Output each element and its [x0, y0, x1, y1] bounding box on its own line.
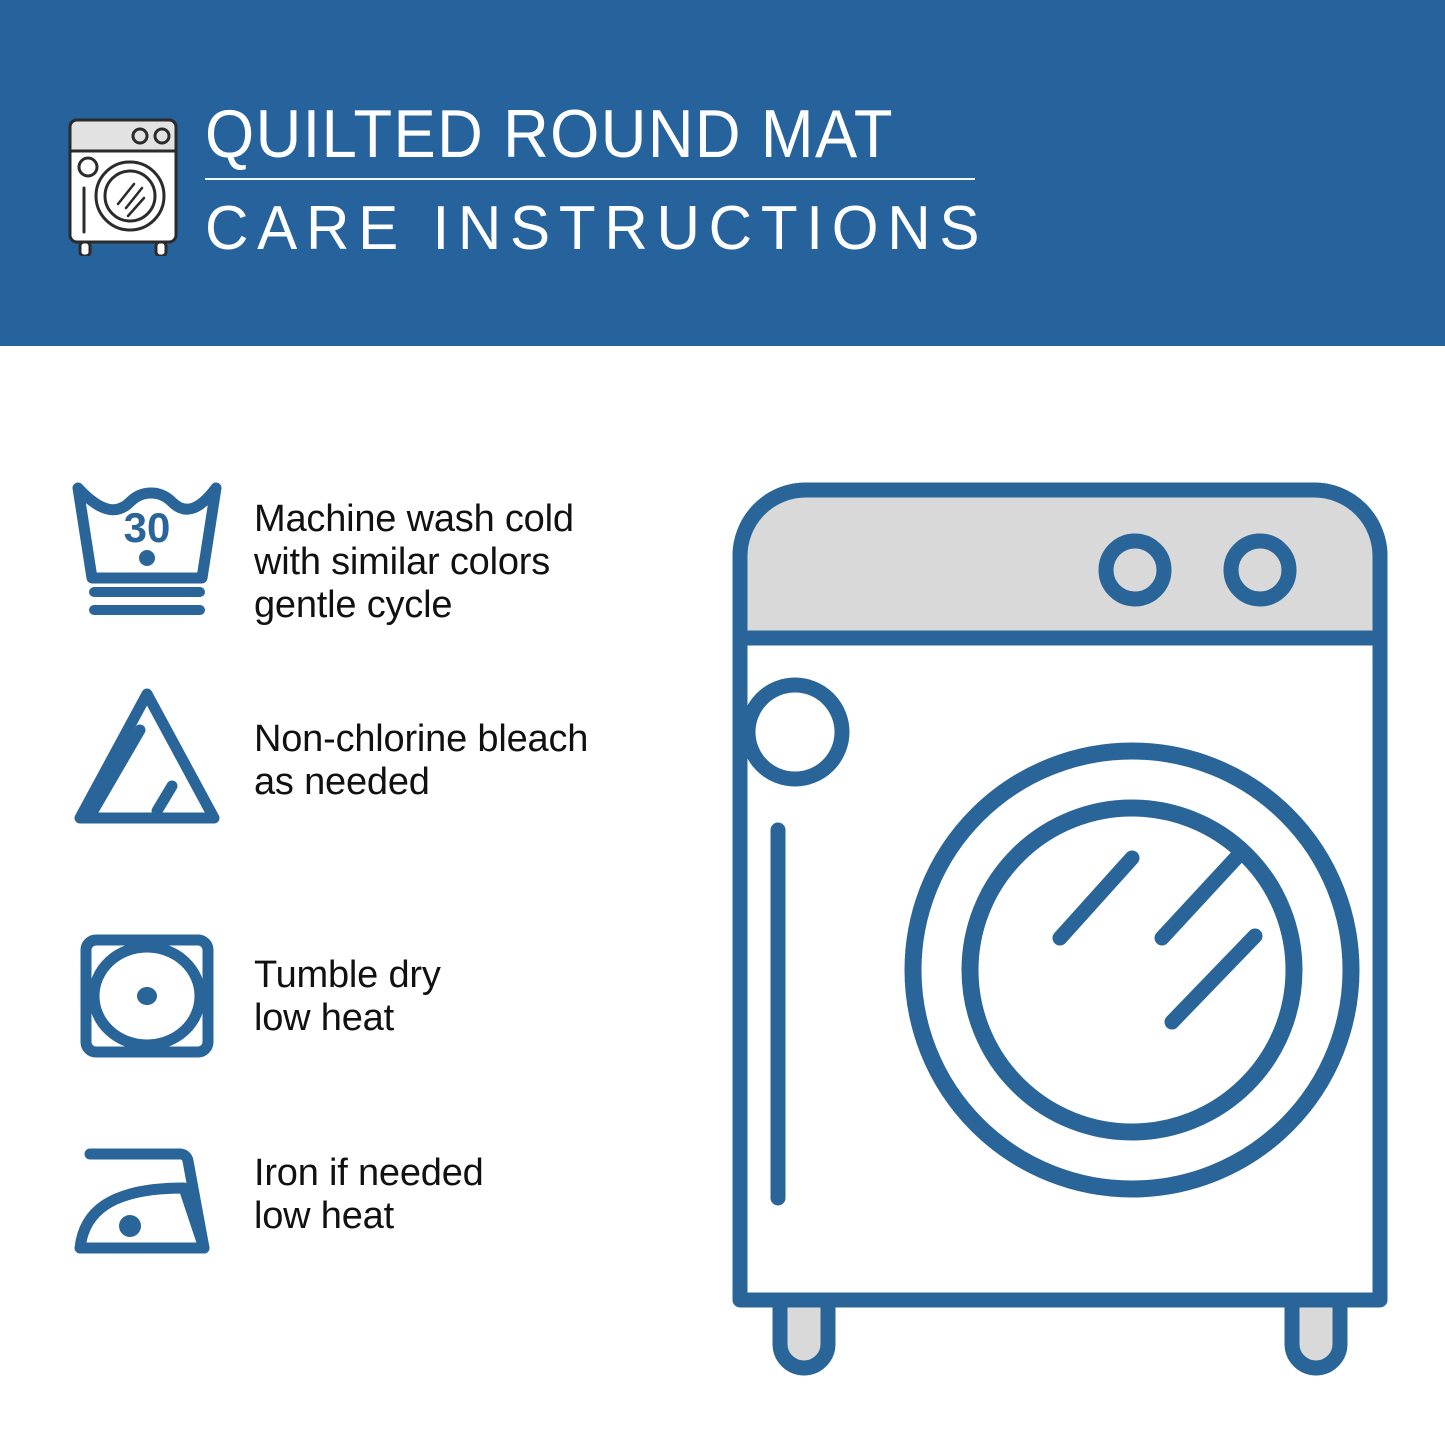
header-banner: QUILTED ROUND MAT CARE INSTRUCTIONS: [0, 0, 1445, 346]
header-text-block: QUILTED ROUND MAT CARE INSTRUCTIONS: [205, 96, 1005, 264]
care-line: Machine wash cold: [254, 498, 574, 541]
care-instruction-list: 30 Machine wash cold with similar colors…: [0, 470, 700, 1316]
leg-left: [780, 1300, 828, 1368]
page-subtitle: CARE INSTRUCTIONS: [205, 194, 981, 264]
care-line: as needed: [254, 761, 588, 804]
list-item: Non-chlorine bleach as needed: [0, 678, 700, 916]
page-title: QUILTED ROUND MAT: [205, 96, 949, 172]
care-line: Iron if needed: [254, 1152, 484, 1195]
care-line: low heat: [254, 997, 441, 1040]
wash-tub-30-icon: 30: [62, 470, 232, 630]
wash-temp-label: 30: [124, 504, 171, 551]
title-divider: [205, 178, 975, 180]
care-text-3: Iron if needed low heat: [254, 1116, 484, 1238]
care-line: Tumble dry: [254, 954, 441, 997]
washing-machine-icon: [62, 104, 184, 256]
care-text-2: Tumble dry low heat: [254, 916, 441, 1040]
tumble-dry-low-icon: [62, 916, 232, 1076]
iron-low-heat-icon: [62, 1116, 232, 1276]
front-load-washing-machine-illustration: [720, 470, 1400, 1380]
care-line: with similar colors: [254, 541, 574, 584]
list-item: Iron if needed low heat: [0, 1116, 700, 1316]
non-chlorine-bleach-triangle-icon: [62, 678, 232, 838]
care-instructions-infographic: QUILTED ROUND MAT CARE INSTRUCTIONS: [0, 0, 1445, 1445]
care-line: low heat: [254, 1195, 484, 1238]
list-item: Tumble dry low heat: [0, 916, 700, 1116]
care-line: Non-chlorine bleach: [254, 718, 588, 761]
leg-right: [1292, 1300, 1340, 1368]
list-item: 30 Machine wash cold with similar colors…: [0, 470, 700, 678]
care-text-1: Non-chlorine bleach as needed: [254, 678, 588, 804]
care-line: gentle cycle: [254, 584, 574, 627]
care-text-0: Machine wash cold with similar colors ge…: [254, 470, 574, 627]
